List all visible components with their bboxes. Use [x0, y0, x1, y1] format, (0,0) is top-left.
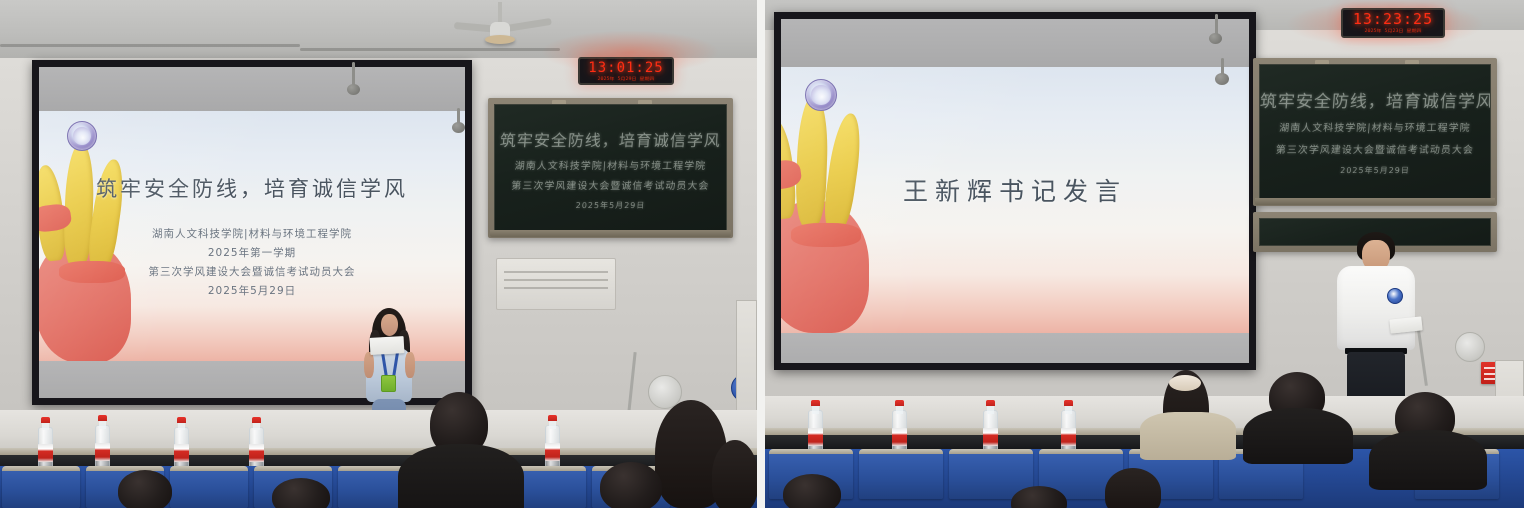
- chalk-line: 2025年5月29日: [495, 200, 727, 211]
- university-seal-icon: [67, 121, 97, 151]
- led-clock-date: 2025年 5月23日 星期四: [1364, 29, 1421, 33]
- audience-shoulders: [1369, 430, 1487, 490]
- fan-light-ring: [485, 35, 515, 44]
- bottle-label: [174, 444, 189, 462]
- screen-letterbox-top: [781, 19, 1249, 67]
- bottle-neck: [253, 422, 260, 430]
- chalk-line: 2025年5月29日: [1260, 165, 1491, 176]
- presenter-badge: [381, 375, 396, 392]
- slide-subtitle-line: 湖南人文科技学院|材料与环境工程学院: [39, 226, 465, 241]
- wall-clock-disc: [1455, 332, 1485, 362]
- panel-divider: [757, 0, 765, 508]
- ceiling-seam: [0, 44, 300, 47]
- seat-top-rail: [1039, 449, 1123, 454]
- projector-head: [1209, 33, 1222, 44]
- screen-letterbox-top: [39, 67, 465, 111]
- bottle-cap: [252, 417, 260, 423]
- bottle-label: [38, 444, 53, 462]
- chalk-line: 筑牢安全防线，培育诚信学风: [494, 127, 727, 151]
- water-bottle: [249, 417, 264, 470]
- water-bottle: [545, 415, 560, 470]
- bottle-cap: [548, 415, 556, 421]
- bottle-neck: [812, 405, 819, 414]
- air-conditioner-unit: [496, 258, 616, 310]
- bottle-cap: [811, 400, 819, 406]
- ceiling-fan: [470, 2, 530, 46]
- bottle-label: [1061, 428, 1076, 447]
- seat-top-rail: [2, 466, 80, 471]
- screen-letterbox-bottom: [781, 333, 1249, 370]
- stage-face: [0, 410, 757, 452]
- seat-top-rail: [769, 449, 853, 454]
- audience-head: [600, 462, 662, 508]
- ac-vent: [504, 271, 608, 273]
- seat: [2, 466, 80, 508]
- presenter-script-paper: [370, 336, 405, 355]
- chalk-line: 湖南人文科技学院|材料与环境工程学院: [494, 157, 726, 172]
- bottle-neck: [178, 422, 185, 430]
- chalk-tray: [1255, 198, 1495, 205]
- seat: [170, 466, 248, 508]
- led-clock-left: 13:01:25 2025年 5月29日 星期四: [578, 57, 674, 85]
- bottle-neck: [549, 420, 556, 429]
- art-palm: [781, 201, 869, 333]
- projector-head: [347, 84, 360, 95]
- photo-pair-container: 13:01:25 2025年 5月29日 星期四 筑牢安全防线，培育诚信学风 湖…: [0, 0, 1524, 508]
- slide-title: 王新辉书记发言: [781, 172, 1249, 208]
- water-bottle: [95, 415, 110, 470]
- audience-head: [712, 440, 757, 508]
- art-band: [791, 223, 861, 247]
- chalk-line: 第三次学风建设大会暨诚信考试动员大会: [1259, 141, 1490, 156]
- bottle-label: [983, 428, 998, 447]
- slide-subtitle-line: 2025年5月29日: [39, 283, 465, 298]
- slide-subtitle-line: 第三次学风建设大会暨诚信考试动员大会: [39, 264, 465, 279]
- presenter-shirt-emblem: [1387, 288, 1403, 304]
- seat-top-rail: [949, 449, 1033, 454]
- led-clock-date: 2025年 5月29日 星期四: [597, 77, 654, 81]
- seat-top-rail: [859, 449, 943, 454]
- bottle-neck: [987, 405, 994, 414]
- blackboard-surface: 筑牢安全防线，培育诚信学风 湖南人文科技学院|材料与环境工程学院 第三次学风建设…: [1259, 64, 1491, 200]
- audience-head: [118, 470, 172, 508]
- presenter-arm: [364, 352, 374, 378]
- bottle-cap: [986, 400, 994, 406]
- led-clock-time: 13:23:25: [1353, 12, 1433, 27]
- seat: [859, 449, 943, 499]
- bottle-cap: [895, 400, 903, 406]
- presenter-arm: [405, 352, 415, 378]
- presenter-shirt: [1337, 266, 1415, 350]
- blackboard-right: 筑牢安全防线，培育诚信学风 湖南人文科技学院|材料与环境工程学院 第三次学风建设…: [1253, 58, 1497, 206]
- bottle-neck: [1065, 405, 1072, 414]
- audience-hair-scrunchie: [1169, 375, 1201, 391]
- bottle-label: [892, 428, 907, 447]
- bottle-label: [249, 444, 264, 462]
- university-seal-icon: [805, 79, 837, 111]
- slide-title: 筑牢安全防线，培育诚信学风: [39, 173, 465, 203]
- bottle-neck: [99, 420, 106, 429]
- ceiling-seam: [300, 48, 560, 51]
- bottle-cap: [41, 417, 49, 423]
- audience-shoulders: [398, 444, 524, 508]
- slide-subtitle-line: 2025年第一学期: [39, 245, 465, 260]
- bottle-cap: [177, 417, 185, 423]
- bottle-neck: [42, 422, 49, 430]
- led-clock-right: 13:23:25 2025年 5月23日 星期四: [1341, 8, 1445, 38]
- projector-mount: [352, 62, 355, 86]
- chalk-line: 第三次学风建设大会暨诚信考试动员大会: [494, 177, 726, 192]
- projector-head: [452, 122, 465, 133]
- seat-top-rail: [254, 466, 332, 471]
- water-bottle: [808, 400, 823, 455]
- ceiling: [0, 0, 757, 62]
- ac-vent: [504, 279, 608, 281]
- chalk-line: 湖南人文科技学院|材料与环境工程学院: [1259, 119, 1490, 134]
- bottle-label: [808, 428, 823, 447]
- blackboard-surface: 筑牢安全防线，培育诚信学风 湖南人文科技学院|材料与环境工程学院 第三次学风建设…: [494, 104, 727, 232]
- fan-rod: [498, 2, 502, 24]
- bottle-cap: [1064, 400, 1072, 406]
- photo-panel-left: 13:01:25 2025年 5月29日 星期四 筑牢安全防线，培育诚信学风 湖…: [0, 0, 757, 508]
- audience-jacket: [1140, 412, 1236, 460]
- water-bottle: [1061, 400, 1076, 455]
- presenter-face: [381, 314, 398, 336]
- bottle-neck: [896, 405, 903, 414]
- seat-top-rail: [170, 466, 248, 471]
- projection-screen-right: 王新辉书记发言: [774, 12, 1256, 370]
- audience-head: [783, 474, 841, 508]
- bottle-label: [95, 443, 110, 462]
- water-bottle: [174, 417, 189, 470]
- bottle-label: [545, 443, 560, 462]
- water-bottle: [38, 417, 53, 470]
- audience-head: [1105, 468, 1161, 508]
- blackboard-left: 筑牢安全防线，培育诚信学风 湖南人文科技学院|材料与环境工程学院 第三次学风建设…: [488, 98, 733, 238]
- water-bottle: [983, 400, 998, 455]
- bottle-cap: [98, 415, 106, 421]
- chalk-line: 筑牢安全防线，培育诚信学风: [1259, 87, 1491, 112]
- led-clock-time: 13:01:25: [588, 61, 663, 75]
- water-bottle: [892, 400, 907, 455]
- ac-vent: [504, 287, 608, 289]
- photo-panel-right: 13:23:25 2025年 5月23日 星期四 王新辉书记发言: [765, 0, 1524, 508]
- stage-lip: [0, 448, 757, 455]
- chalk-tray: [490, 230, 731, 237]
- audience-head: [272, 478, 330, 508]
- audience-shoulders: [1243, 408, 1353, 464]
- projector-head: [1215, 73, 1229, 85]
- slide-surface: 王新辉书记发言: [781, 67, 1249, 333]
